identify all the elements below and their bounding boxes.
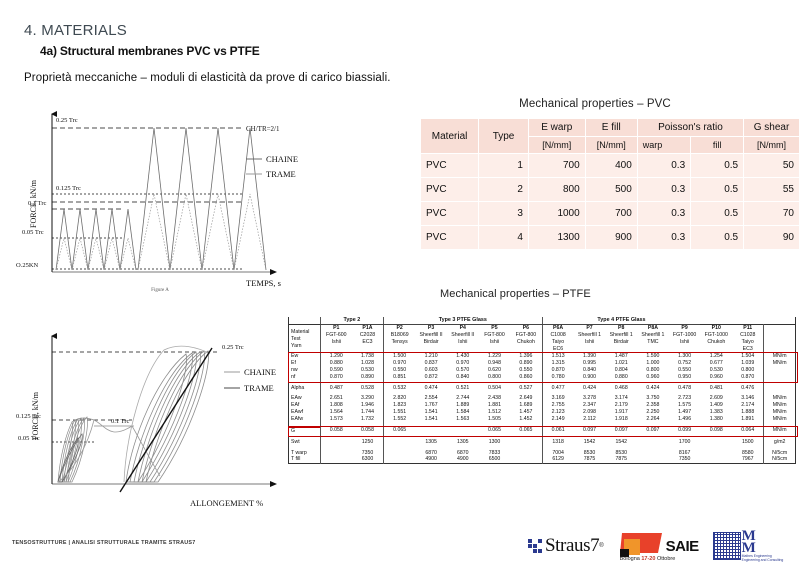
ptfe-cell: 2.149 [542,416,574,423]
ptfe-unit-cell: MN/m [764,360,796,367]
ptfe-cell [447,427,479,434]
ptfe-cell: 1.396 [510,353,542,360]
ptfe-cell: 2.264 [637,416,669,423]
table-row: T fill6300490049006500612978757875735079… [289,456,796,463]
ptfe-cell: 0.528 [352,385,384,392]
figure-b-y-axis-label: FORCE, kN/m [31,391,40,440]
pvc-cell-material: PVC [421,154,479,178]
pvc-cell-nuwarp: 0.3 [637,226,690,250]
ptfe-cell: 2.174 [732,402,764,409]
figure-a-legend-trame: TRAME [266,169,296,179]
ptfe-group-label: Type 3 PTFE Glass [384,317,542,325]
pvc-cell-type: 4 [479,226,529,250]
ptfe-cell [320,450,352,457]
ptfe-cell: 0.950 [669,374,701,381]
ptfe-cell: 1.767 [415,402,447,409]
ptfe-cell: 1.487 [605,353,637,360]
ptfe-cell: 2.179 [605,402,637,409]
ptfe-cell: 6500 [479,456,511,463]
figure-a-caption: Figure A [151,288,169,292]
ptfe-cell: 1.409 [700,402,732,409]
table-row: T warp7350687068707833700485308530816785… [289,450,796,457]
ptfe-cell: 2.820 [384,395,416,402]
figure-b-legend-chaine: CHAINE [244,367,276,377]
ptfe-cell: 0.521 [447,385,479,392]
ptfe-cell: 0.837 [415,360,447,367]
ptfe-cell: 1.512 [479,409,511,416]
ptfe-cell: 0.527 [510,385,542,392]
pvc-col-ewarp: E warp [528,119,585,137]
ptfe-cell: 1.552 [384,416,416,423]
ptfe-cell: 0.424 [637,385,669,392]
ptfe-cell: 1700 [669,439,701,446]
pvc-unit-nufill: fill [691,137,744,154]
ptfe-row-label: Alpha [289,385,321,392]
ptfe-cell: 1.028 [352,360,384,367]
footer-logos: Straus7® SAIE Bologna 17-20 Ottobre M M … [528,528,783,564]
ptfe-cell [510,456,542,463]
ptfe-cell: 1.210 [415,353,447,360]
table-row: EAf1.8081.9461.8231.7671.8891.8811.6892.… [289,402,796,409]
ptfe-cell: 0.804 [605,367,637,374]
ptfe-table-title: Mechanical properties – PTFE [440,288,591,300]
figure-a-level-0125: 0.125 Trc [56,185,81,192]
ptfe-cell: 1.808 [320,402,352,409]
ptfe-cell: 0.851 [384,374,416,381]
ptfe-cell: 6129 [542,456,574,463]
pvc-cell-gshear: 55 [744,178,800,202]
ptfe-cell: 1.564 [320,409,352,416]
figure-b-level-01: 0.1 Trc [111,418,130,425]
intro-paragraph: Proprietà meccaniche – moduli di elastic… [24,72,391,84]
table-row: Alpha0.4870.5280.5320.4740.5210.5040.527… [289,385,796,392]
ptfe-cell: 0.880 [605,374,637,381]
pvc-cell-material: PVC [421,202,479,226]
ptfe-cell: 1.380 [700,416,732,423]
pvc-cell-type: 1 [479,154,529,178]
table-row: Swt125013051305130013181542154217001500g… [289,439,796,446]
pvc-col-poisson: Poisson's ratio [637,119,743,137]
table-row: EAwf1.5641.7441.5511.5411.5841.5121.4572… [289,409,796,416]
pvc-col-gshear: G shear [744,119,800,137]
ptfe-row-label: EAf [289,402,321,409]
pvc-unit-gshear: [N/mm] [744,137,800,154]
ptfe-cell: 1.497 [669,409,701,416]
ptfe-cell [510,439,542,446]
ptfe-cell: 0.064 [732,427,764,434]
ptfe-cell: 0.960 [637,374,669,381]
saie-wordmark: SAIE [666,538,699,555]
ptfe-cell: 2.651 [320,395,352,402]
pvc-cell-efill: 500 [585,178,637,202]
ptfe-column-header: P10FGT-1000Chukoh [700,325,732,353]
ptfe-row-label: T fill [289,456,321,463]
figure-a-ratio-label: CH/TR=2/1 [246,125,280,133]
ptfe-unit-cell: MN/m [764,409,796,416]
ptfe-unit-cell [764,374,796,381]
ptfe-cell: 0.504 [479,385,511,392]
ptfe-cell: 0.550 [510,367,542,374]
ptfe-cell: 1.881 [479,402,511,409]
ptfe-column-header: P9FGT-1000Ishii [669,325,701,353]
pvc-cell-efill: 700 [585,202,637,226]
ptfe-cell: 0.752 [669,360,701,367]
ptfe-cell: 1.575 [669,402,701,409]
ptfe-cell: 1.918 [605,416,637,423]
ptfe-cell: 1.000 [637,360,669,367]
pvc-cell-ewarp: 800 [528,178,585,202]
ptfe-cell: 2.649 [510,395,542,402]
mathes-engineering-logo: M M Mathes Engineering Engineering and C… [713,530,784,563]
ptfe-cell: 4900 [447,456,479,463]
pvc-cell-ewarp: 1000 [528,202,585,226]
ptfe-row-label: Ew [289,353,321,360]
ptfe-cell: 3.750 [637,395,669,402]
ptfe-cell: 7967 [732,456,764,463]
ptfe-cell: 7350 [669,456,701,463]
saie-logo: SAIE Bologna 17-20 Ottobre [618,531,699,561]
pvc-cell-nuwarp: 0.3 [637,202,690,226]
ptfe-cell: 1.513 [542,353,574,360]
ptfe-cell: 0.840 [574,367,606,374]
ptfe-cell: 3.174 [605,395,637,402]
pvc-cell-gshear: 50 [744,154,800,178]
ptfe-unit-header [764,325,796,353]
page-subtitle: 4a) Structural membranes PVC vs PTFE [40,44,260,58]
ptfe-cell: 0.800 [479,374,511,381]
figure-a-svg: CHAINE TRAME CH/TR=2/1 0.25 Trc 0.125 Tr… [14,104,306,292]
pvc-col-material: Material [421,119,479,154]
ptfe-cell: 1.229 [479,353,511,360]
ptfe-cell: 2.358 [637,402,669,409]
ptfe-cell: 1.946 [352,402,384,409]
pvc-cell-efill: 900 [585,226,637,250]
ptfe-cell: 0.532 [384,385,416,392]
pvc-cell-material: PVC [421,178,479,202]
ptfe-column-header: P8Sheerfill 1Birdair [605,325,637,353]
figure-a-legend-chaine: CHAINE [266,154,298,164]
ptfe-cell: 0.530 [352,367,384,374]
ptfe-cell: 3.169 [542,395,574,402]
ptfe-cell: 3.278 [574,395,606,402]
table-row: PVC 1 700 400 0.3 0.5 50 [421,154,800,178]
ptfe-cell: 0.097 [605,427,637,434]
ptfe-cell: 1.300 [669,353,701,360]
ptfe-cell: 0.620 [479,367,511,374]
pvc-cell-type: 2 [479,178,529,202]
ptfe-unit-cell: MN/m [764,402,796,409]
ptfe-cell: 7004 [542,450,574,457]
ptfe-cell: 0.590 [320,367,352,374]
ptfe-cell: 0.960 [700,374,732,381]
ptfe-row-label: G [289,427,321,434]
ptfe-cell [637,456,669,463]
ptfe-cell: 0.468 [605,385,637,392]
ptfe-cell: 6870 [447,450,479,457]
ptfe-cell: 0.061 [542,427,574,434]
ptfe-column-header: P1FGT-600Ishii [320,325,352,353]
ptfe-column-header-row: MaterialTestYarnP1FGT-600IshiiP1AC2028EC… [289,325,796,353]
ptfe-cell: 6870 [415,450,447,457]
figure-a-chart: CHAINE TRAME CH/TR=2/1 0.25 Trc 0.125 Tr… [14,104,306,292]
table-row: EAw2.6513.2902.8202.5542.7442.4382.6493.… [289,395,796,402]
ptfe-cell [384,456,416,463]
ptfe-unit-cell: MN/m [764,353,796,360]
ptfe-cell: 0.550 [384,367,416,374]
table-row: Ew1.2901.7381.5001.2101.4301.2291.3961.5… [289,353,796,360]
ptfe-cell: 1.889 [447,402,479,409]
ptfe-cell: 1.504 [732,353,764,360]
ptfe-column-header: P3Sheerfill IIBirdair [415,325,447,353]
ptfe-cell: 0.880 [320,360,352,367]
ptfe-cell: 1.689 [510,402,542,409]
ptfe-unit-cell [764,367,796,374]
figure-b-legend-trame: TRAME [244,383,274,393]
straus7-logo: Straus7® [528,535,604,557]
ptfe-cell [320,456,352,463]
ptfe-column-header: P4Sheerfill IIIshii [447,325,479,353]
pvc-properties-table: Material Type E warp E fill Poisson's ra… [420,118,800,250]
ptfe-cell: 0.900 [574,374,606,381]
ptfe-cell: 1.254 [700,353,732,360]
ptfe-cell: 1.315 [542,360,574,367]
ptfe-properties-table: Type 2Type 3 PTFE GlassType 4 PTFE Glass… [288,317,796,464]
ptfe-group-label: Type 2 [320,317,383,325]
ptfe-cell: 7875 [605,456,637,463]
pvc-cell-nuwarp: 0.3 [637,178,690,202]
ptfe-column-header: P8ASheerfill 1TMC [637,325,669,353]
ptfe-cell: 1.917 [605,409,637,416]
ptfe-cell: 8530 [574,450,606,457]
table-row: PVC 3 1000 700 0.3 0.5 70 [421,202,800,226]
ptfe-unit-cell: MN/m [764,395,796,402]
ptfe-cell: 0.948 [479,360,511,367]
figure-b-level-025: 0.25 Trc [222,344,244,351]
ptfe-cell: 0.487 [320,385,352,392]
ptfe-column-header: P7Sheerfill 1Ishii [574,325,606,353]
ptfe-cell: 2.744 [447,395,479,402]
ptfe-cell: 1.590 [637,353,669,360]
ptfe-cell: 1.500 [384,353,416,360]
ptfe-cell: 0.840 [447,374,479,381]
ptfe-unit-cell: N/5cm [764,456,796,463]
ptfe-cell [415,427,447,434]
ptfe-row-label: EAw [289,395,321,402]
ptfe-cell: 0.065 [384,427,416,434]
ptfe-cell: 3.290 [352,395,384,402]
figure-a-y-axis-label: FORCE, kN/m [29,179,38,228]
ptfe-cell: 0.872 [415,374,447,381]
pvc-cell-nufill: 0.5 [691,202,744,226]
ptfe-cell: 1318 [542,439,574,446]
ptfe-cell: 1.496 [669,416,701,423]
ptfe-cell: 8580 [732,450,764,457]
pvc-cell-type: 3 [479,202,529,226]
ptfe-cell: 0.098 [700,427,732,434]
ptfe-cell: 0.550 [669,367,701,374]
ptfe-cell: 3.146 [732,395,764,402]
ptfe-cell: 7833 [479,450,511,457]
ptfe-cell: 1.888 [732,409,764,416]
ptfe-unit-cell: g/m2 [764,439,796,446]
pvc-cell-nuwarp: 0.3 [637,154,690,178]
ptfe-cell: 1.744 [352,409,384,416]
pvc-unit-nuwarp: warp [637,137,690,154]
ptfe-cell: 0.424 [574,385,606,392]
ptfe-column-header: P6FGT-800Chukoh [510,325,542,353]
ptfe-unit-cell: MN/m [764,416,796,423]
ptfe-unit-cell: N/5cm [764,450,796,457]
ptfe-cell [700,456,732,463]
ptfe-cell: 1.573 [320,416,352,423]
ptfe-unit-cell [764,385,796,392]
ptfe-cell: 2.347 [574,402,606,409]
pvc-cell-nufill: 0.5 [691,178,744,202]
ptfe-cell: 1.039 [732,360,764,367]
ptfe-cell: 1.584 [447,409,479,416]
ptfe-cell: 0.477 [542,385,574,392]
ptfe-cell: 1305 [447,439,479,446]
ptfe-table-body: Type 2Type 3 PTFE GlassType 4 PTFE Glass… [289,317,796,464]
footer-text: TENSOSTRUTTURE | ANALISI STRUTTURALE TRA… [12,540,196,546]
ptfe-cell: 0.481 [700,385,732,392]
ptfe-cell: 0.570 [447,367,479,374]
ptfe-cell [637,439,669,446]
table-row: PVC 4 1300 900 0.3 0.5 90 [421,226,800,250]
ptfe-cell: 2.112 [574,416,606,423]
ptfe-cell: 1305 [415,439,447,446]
pvc-cell-ewarp: 700 [528,154,585,178]
ptfe-cell [384,439,416,446]
ptfe-column-header: P2B18069Tensys [384,325,416,353]
ptfe-cell: 1.738 [352,353,384,360]
ptfe-cell [637,450,669,457]
ptfe-row-label: nw [289,367,321,374]
pvc-col-efill: E fill [585,119,637,137]
ptfe-cell: 1.823 [384,402,416,409]
pvc-col-type: Type [479,119,529,154]
ptfe-cell: 0.603 [415,367,447,374]
straus7-grid-icon [528,539,542,553]
ptfe-column-header: P5FGT-800Ishii [479,325,511,353]
ptfe-unit-cell: MN/m [764,427,796,434]
figure-a-level-005: 0.05 Trc [22,229,44,236]
ptfe-cell: 2.609 [700,395,732,402]
ptfe-cell: 0.870 [320,374,352,381]
ptfe-cell: 1.891 [732,416,764,423]
ptfe-cell: 1.732 [352,416,384,423]
ptfe-cell: 0.780 [542,374,574,381]
ptfe-cell: 2.438 [479,395,511,402]
ptfe-cell: 0.478 [669,385,701,392]
ptfe-cell: 2.755 [542,402,574,409]
ptfe-cell: 1542 [574,439,606,446]
ptfe-cell: 0.870 [732,374,764,381]
figure-b-chart: CHAINE TRAME 0.25 Trc 0.125 Trc 0.1 Trc … [14,316,304,528]
ptfe-cell: 0.890 [352,374,384,381]
ptfe-cell: 1.563 [447,416,479,423]
pvc-cell-nufill: 0.5 [691,154,744,178]
mathes-hatch-icon [713,532,741,560]
ptfe-row-label: Swt [289,439,321,446]
straus7-wordmark: Straus7 [545,535,599,557]
ptfe-cell: 0.970 [447,360,479,367]
figure-b-svg: CHAINE TRAME 0.25 Trc 0.125 Trc 0.1 Trc … [14,316,304,528]
table-row: nf0.8700.8900.8510.8720.8400.8000.8600.7… [289,374,796,381]
figure-a-x-axis-label: TEMPS, s [246,278,281,288]
ptfe-cell: 8530 [605,450,637,457]
table-row: Ef0.8801.0280.9700.8370.9700.9480.8901.3… [289,360,796,367]
ptfe-row-label: EAwf [289,409,321,416]
figure-a-level-025kn: O.25KN [16,262,39,269]
ptfe-cell [700,439,732,446]
ptfe-cell: 7350 [352,450,384,457]
ptfe-cell: 1500 [732,439,764,446]
ptfe-cell: 1.457 [510,409,542,416]
ptfe-group-unit-spacer [700,317,732,325]
ptfe-table-wrapper: Type 2Type 3 PTFE GlassType 4 PTFE Glass… [288,317,796,464]
ptfe-cell: 0.065 [479,427,511,434]
table-row: G0.0580.0580.0650.0650.0650.0610.0970.09… [289,427,796,434]
pvc-unit-efill: [N/mm] [585,137,637,154]
ptfe-cell: 1.452 [510,416,542,423]
pvc-table-title: Mechanical properties – PVC [430,98,760,110]
ptfe-cell: 0.800 [637,367,669,374]
mathes-m2-icon: M [742,542,784,554]
ptfe-row-label: nf [289,374,321,381]
ptfe-cell: 1.383 [700,409,732,416]
ptfe-cell: 0.677 [700,360,732,367]
ptfe-cell: 1.505 [479,416,511,423]
ptfe-cell: 0.099 [669,427,701,434]
pvc-cell-gshear: 70 [744,202,800,226]
ptfe-cell: 0.058 [320,427,352,434]
ptfe-cell: 0.474 [415,385,447,392]
pvc-header-row-1: Material Type E warp E fill Poisson's ra… [421,119,800,137]
ptfe-cell [700,450,732,457]
ptfe-cell: 1.021 [605,360,637,367]
ptfe-cell: 0.860 [510,374,542,381]
ptfe-cell: 1.290 [320,353,352,360]
ptfe-cell: 0.097 [574,427,606,434]
pvc-cell-nufill: 0.5 [691,226,744,250]
ptfe-column-header: P6AC1008TaiyoEC6 [542,325,574,353]
pvc-cell-efill: 400 [585,154,637,178]
table-row: PVC 2 800 500 0.3 0.5 55 [421,178,800,202]
ptfe-row-label: T warp [289,450,321,457]
ptfe-cell: 1300 [479,439,511,446]
ptfe-cell: 2.098 [574,409,606,416]
ptfe-cell: 1.430 [447,353,479,360]
ptfe-cell [320,439,352,446]
page-title: 4. MATERIALS [24,22,127,39]
mathes-caption-line2: Engineering and Consulting [742,558,784,562]
figure-b-x-axis-label: ALLONGEMENT % [190,498,263,508]
ptfe-cell: 2.123 [542,409,574,416]
ptfe-group-header-row: Type 2Type 3 PTFE GlassType 4 PTFE Glass [289,317,796,325]
figure-a-level-025: 0.25 Trc [56,117,78,124]
pvc-cell-gshear: 90 [744,226,800,250]
ptfe-cell: 0.476 [732,385,764,392]
ptfe-cell: 2.723 [669,395,701,402]
table-row: nw0.5900.5300.5500.6030.5700.6200.5500.8… [289,367,796,374]
ptfe-cell: 0.970 [384,360,416,367]
ptfe-column-header: P1AC2028EC3 [352,325,384,353]
ptfe-cell: 2.554 [415,395,447,402]
ptfe-cell: 6300 [352,456,384,463]
pvc-cell-material: PVC [421,226,479,250]
table-row: EAfw1.5731.7321.5521.5411.5631.5051.4522… [289,416,796,423]
